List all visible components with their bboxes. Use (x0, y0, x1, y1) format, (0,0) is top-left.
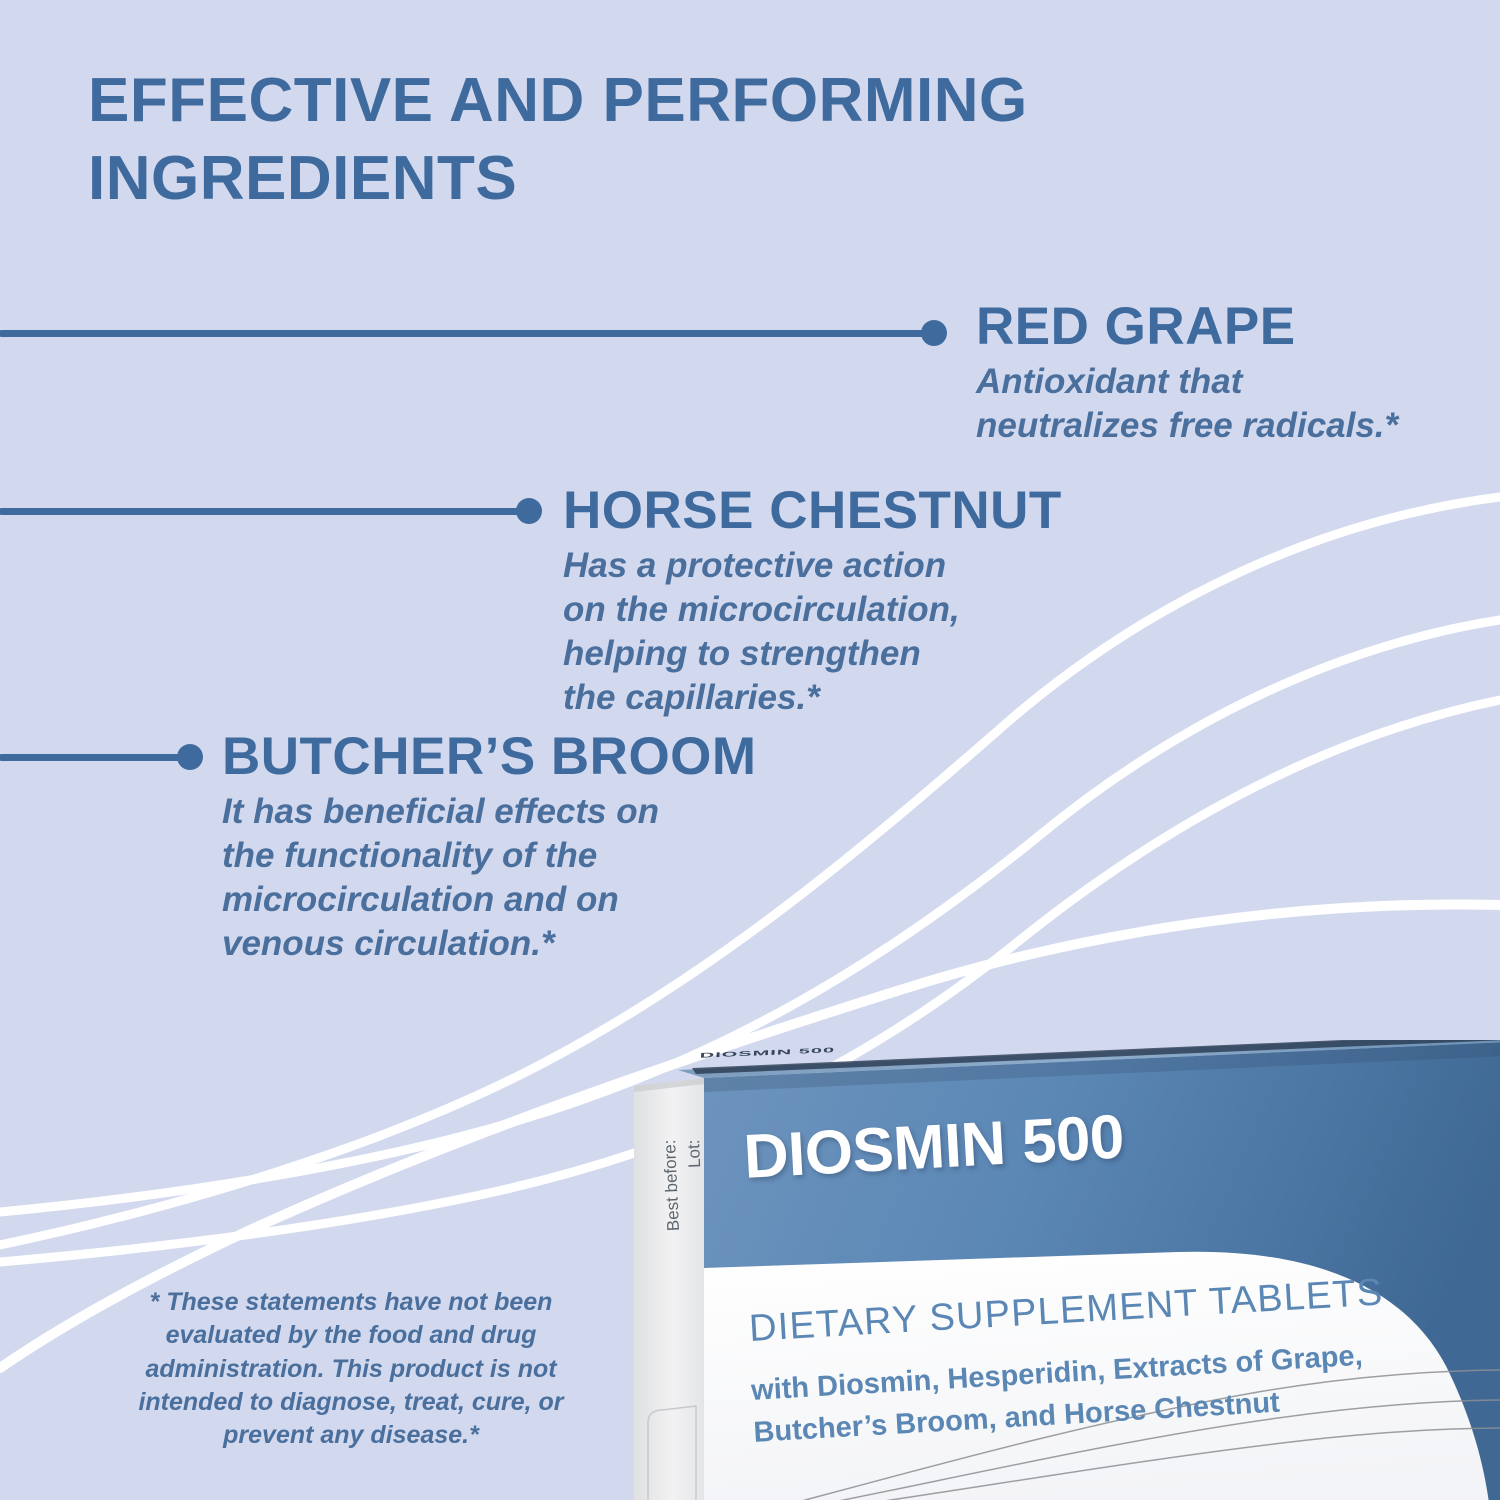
connector-line-horse-chestnut (0, 508, 525, 515)
box-side-best-before-label: Best before: (660, 1139, 684, 1231)
connector-dot-horse-chestnut (516, 498, 542, 524)
ingredient-horse-chestnut: HORSE CHESTNUT Has a protective action o… (563, 484, 1062, 720)
connector-line-butchers-broom (0, 754, 186, 761)
ingredient-name-red-grape: RED GRAPE (976, 300, 1398, 354)
product-box-image: DIOSMIN 500 DIOSMIN 500 DIETARY SUPPLEME… (618, 1040, 1500, 1500)
ingredient-description-red-grape: Antioxidant that neutralizes free radica… (976, 360, 1398, 448)
ingredient-butchers-broom: BUTCHER’S BROOM It has beneficial effect… (222, 730, 757, 966)
page-title: Effective and Performing Ingredients (88, 62, 1268, 218)
connector-line-red-grape (0, 330, 930, 337)
box-side-lot-label: Lot: (684, 1139, 705, 1168)
ingredient-description-horse-chestnut: Has a protective action on the microcirc… (563, 544, 1062, 720)
ingredient-description-butchers-broom: It has beneficial effects on the functio… (222, 790, 757, 966)
product-infographic: Effective and Performing Ingredients RED… (0, 0, 1500, 1500)
connector-dot-butchers-broom (177, 744, 203, 770)
connector-dot-red-grape (921, 320, 947, 346)
fda-disclaimer-text: * These statements have not been evaluat… (96, 1286, 606, 1452)
ingredient-name-horse-chestnut: HORSE CHESTNUT (563, 484, 1062, 538)
ingredient-red-grape: RED GRAPE Antioxidant that neutralizes f… (976, 300, 1398, 448)
ingredient-name-butchers-broom: BUTCHER’S BROOM (222, 730, 757, 784)
